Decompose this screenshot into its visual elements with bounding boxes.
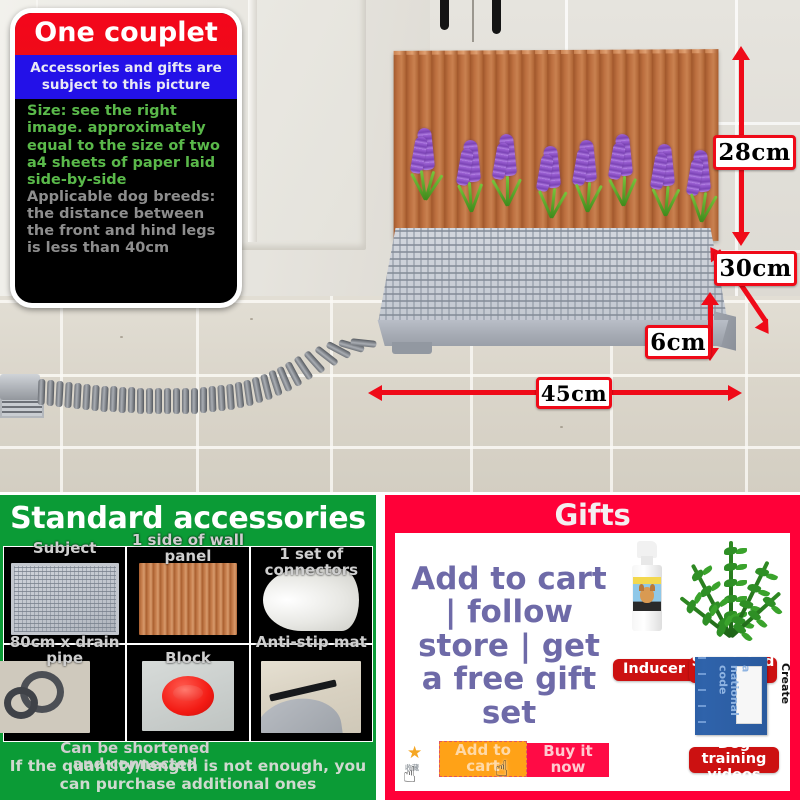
plant-icon xyxy=(685,535,781,637)
arrow-right-icon xyxy=(728,385,742,401)
spray-bottle-icon xyxy=(627,541,667,633)
gifts-title: Gifts xyxy=(385,495,800,532)
buy-it-now-button[interactable]: Buy it now xyxy=(527,743,609,777)
hose-icon xyxy=(0,661,90,733)
wood-panel-icon xyxy=(139,563,237,635)
dimension-label-width: 45cm xyxy=(536,377,612,409)
add-to-cart-button[interactable]: Add to cart xyxy=(439,741,527,777)
dimension-label-depth: 30cm xyxy=(714,251,797,286)
mat-icon xyxy=(261,661,361,733)
accessory-label: 1 side of wall panel xyxy=(129,533,247,565)
accessory-cell-subject[interactable]: Subject xyxy=(4,547,125,643)
accessories-title: Standard accessories xyxy=(0,495,376,536)
wall-hook-icon xyxy=(492,0,501,34)
product-listing-image: 28cm 30cm 6cm 45cm One couplet Accessori… xyxy=(0,0,800,800)
gifts-content-area: Add to cart | follow store | get a free … xyxy=(395,533,790,791)
block-icon xyxy=(142,661,234,731)
accessories-grid: Subject 1 side of wall panel 1 set of co… xyxy=(3,546,373,742)
cursor-pointer-icon: ☝ xyxy=(495,757,508,782)
info-card-subtitle: Accessories and gifts are subject to thi… xyxy=(15,55,237,99)
accessory-label: Subject xyxy=(6,541,124,557)
accessory-cell-wall-panel[interactable]: 1 side of wall panel xyxy=(127,547,248,643)
info-card-size-text: Size: see the right image. approximately… xyxy=(27,103,229,189)
tray-icon xyxy=(11,563,119,635)
accessory-cell-anti-slip-mat[interactable]: Anti-stip mat xyxy=(251,645,372,741)
arrow-left-icon xyxy=(368,385,382,401)
arrow-down-icon xyxy=(732,232,750,246)
dimension-label-height: 28cm xyxy=(713,135,796,170)
main-product-photo: 28cm 30cm 6cm 45cm One couplet Accessori… xyxy=(0,0,800,492)
book-outer-text: Create xyxy=(779,663,791,729)
info-card-title: One couplet xyxy=(15,13,237,55)
arrow-up-icon xyxy=(701,292,719,305)
book-inner-text: a national code xyxy=(717,665,752,725)
accessory-cell-drain-pipe[interactable]: 80cm x drain pipe xyxy=(4,645,125,741)
book-icon: a national code Create xyxy=(695,657,767,735)
cursor-pointer-icon: ☝ xyxy=(403,763,416,788)
dimension-label-thickness: 6cm xyxy=(645,325,711,359)
accessory-cell-connectors[interactable]: 1 set of connectors xyxy=(251,547,372,643)
gift-label-inducer: Inducer xyxy=(613,659,695,681)
drain-hose xyxy=(0,352,400,442)
info-card-breed-text: Applicable dog breeds: the distance betw… xyxy=(27,189,229,257)
favorite-star-icon[interactable]: ★ xyxy=(407,743,422,763)
door-stile xyxy=(248,0,257,242)
wall-hook-icon xyxy=(440,0,449,30)
gifts-panel: Gifts Add to cart | follow store | get a… xyxy=(385,495,800,800)
accessories-footer: If the quantity/length is not enough, yo… xyxy=(0,757,376,794)
accessory-cell-block[interactable]: Block xyxy=(127,645,248,741)
wall-hook-rod-icon xyxy=(472,0,474,42)
cart-action-row: ★ 收藏 Add to cart Buy it now ☝ ☝ xyxy=(403,741,613,783)
arrow-up-icon xyxy=(732,46,750,60)
standard-accessories-panel: Standard accessories Subject 1 side of w… xyxy=(0,495,376,800)
info-card: One couplet Accessories and gifts are su… xyxy=(10,8,242,308)
gift-label-dog-training-videos: Dog training videos xyxy=(689,747,779,773)
connector-icon xyxy=(263,569,359,631)
gifts-headline: Add to cart | follow store | get a free … xyxy=(409,563,609,730)
